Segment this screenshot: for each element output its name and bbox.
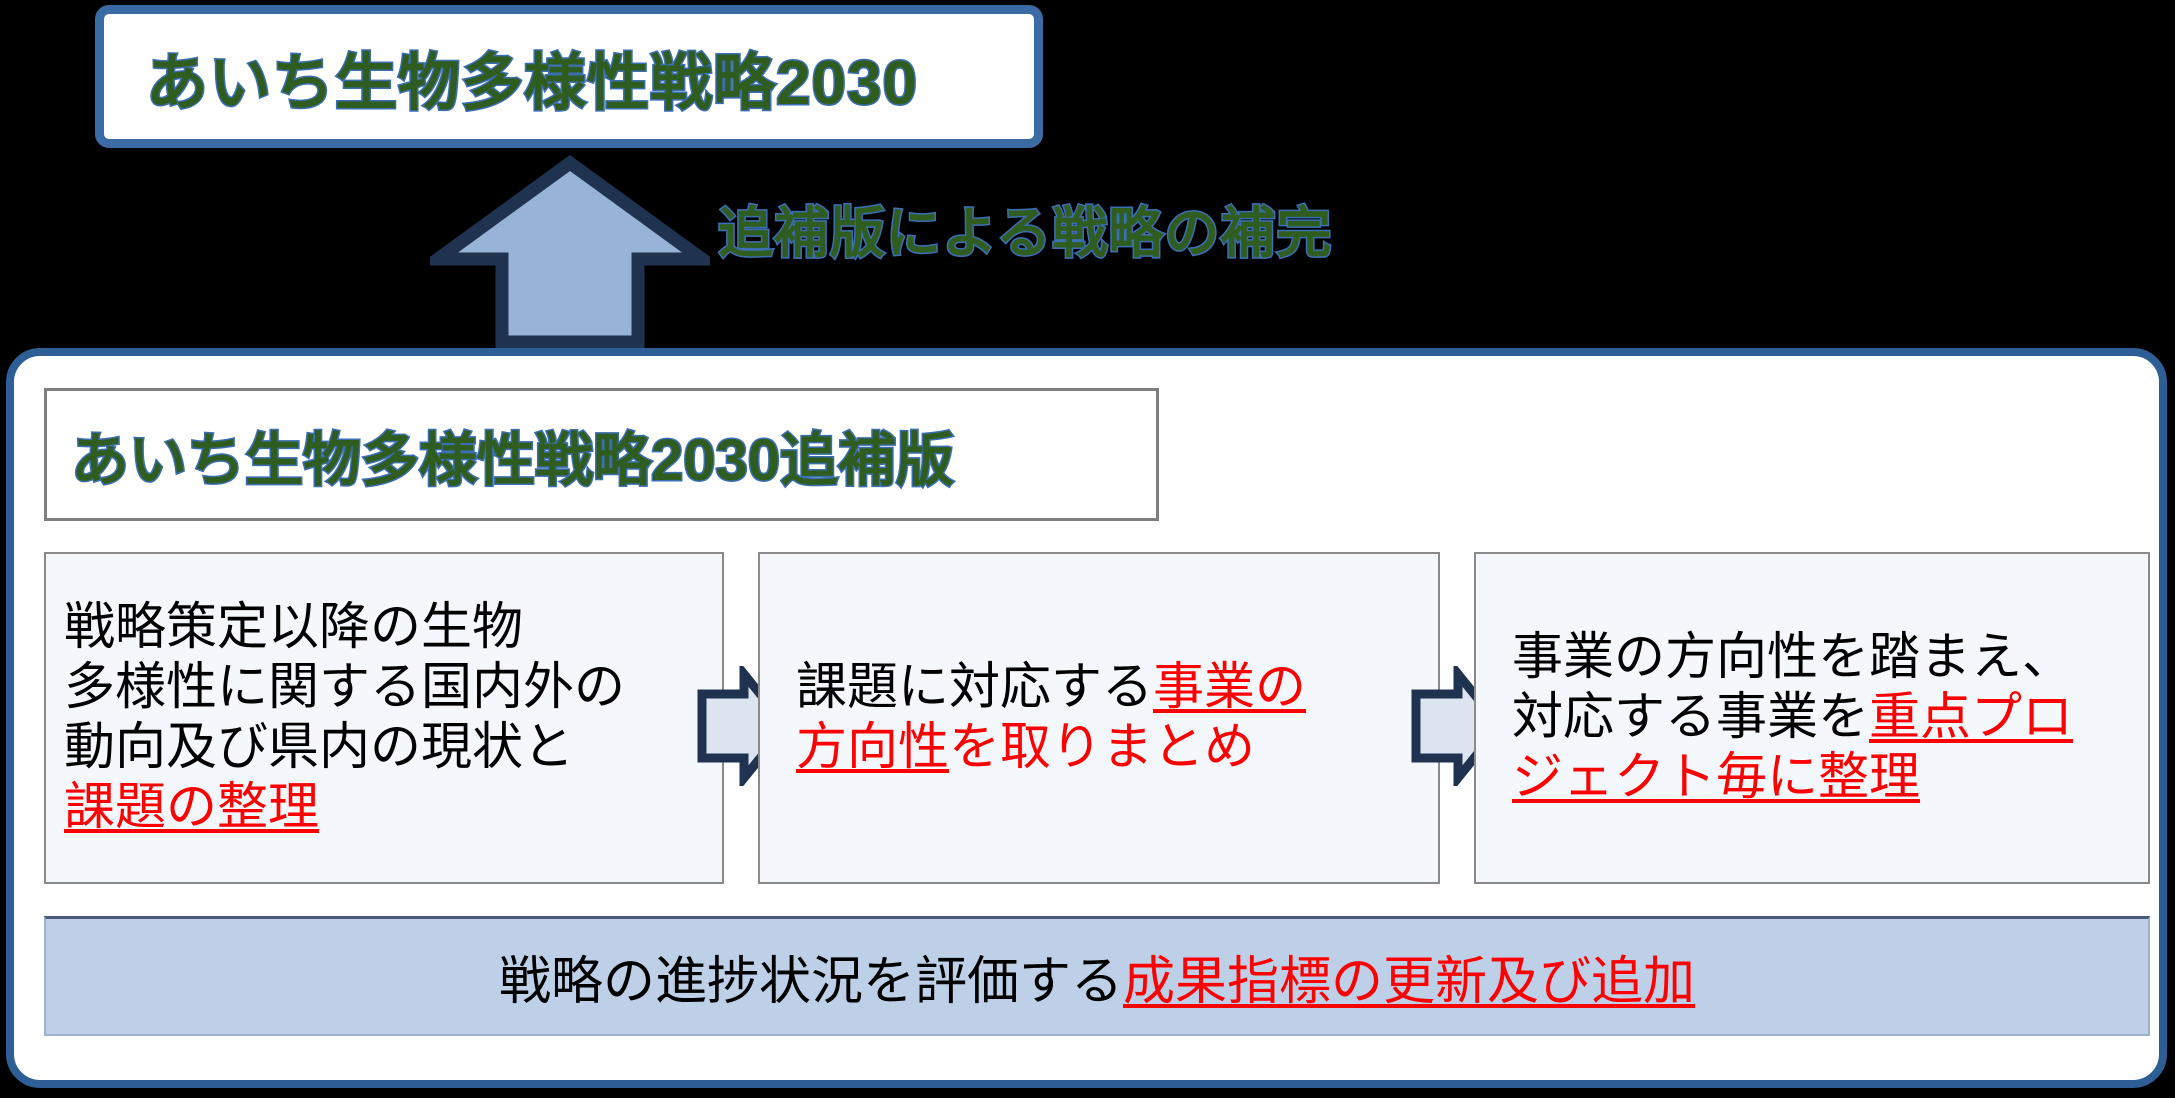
indicator-update-bar: 戦略の進捗状況を評価する成果指標の更新及び追加 <box>44 916 2150 1036</box>
page-title: あいち生物多様性戦略2030 <box>146 32 918 122</box>
line: 戦略策定以降の生物 <box>64 598 523 657</box>
strategy-title-box: あいち生物多様性戦略2030 <box>95 5 1043 148</box>
line-highlight: 事業の <box>1153 658 1306 717</box>
indicator-update-text: 戦略の進捗状況を評価する成果指標の更新及び追加 <box>499 939 1695 1014</box>
step-box-3-text: 事業の方向性を踏まえ、対応する事業を重点プロジェクト毎に整理 <box>1476 628 2089 809</box>
line: 動向及び県内の現状と <box>64 718 574 777</box>
bar-segment-plain: 戦略の進捗状況を評価する <box>499 952 1123 1012</box>
step-box-1: 戦略策定以降の生物多様性に関する国内外の動向及び県内の現状と課題の整理 <box>44 552 724 884</box>
line: 事業の方向性を踏まえ、 <box>1512 628 2073 687</box>
line-highlight: 課題の整理 <box>64 778 319 837</box>
step-box-2: 課題に対応する事業の方向性を取りまとめ <box>758 552 1440 884</box>
line: 対応する事業を <box>1512 688 1869 747</box>
supplement-panel: あいち生物多様性戦略2030追補版 戦略策定以降の生物多様性に関する国内外の動向… <box>6 348 2167 1088</box>
arrow-caption-label: 追補版による戦略の補完 <box>718 188 1332 268</box>
line-highlight: 方向性 <box>796 718 949 777</box>
supplement-subtitle: あいち生物多様性戦略2030追補版 <box>71 413 954 497</box>
up-arrow <box>430 155 710 350</box>
step-box-3: 事業の方向性を踏まえ、対応する事業を重点プロジェクト毎に整理 <box>1474 552 2150 884</box>
line-highlight: を取りまとめ <box>949 718 1255 777</box>
bar-segment-highlight: 成果指標の更新及び追加 <box>1123 952 1695 1012</box>
up-arrow-icon <box>430 155 710 350</box>
supplement-subtitle-box: あいち生物多様性戦略2030追補版 <box>44 388 1159 521</box>
line-highlight: 重点プロ <box>1869 688 2073 747</box>
step-box-2-text: 課題に対応する事業の方向性を取りまとめ <box>760 658 1322 778</box>
line: 課題に対応する <box>796 658 1153 717</box>
step-box-1-text: 戦略策定以降の生物多様性に関する国内外の動向及び県内の現状と課題の整理 <box>46 598 641 839</box>
line: 多様性に関する国内外の <box>64 658 625 717</box>
line-highlight: ジェクト毎に整理 <box>1512 748 1920 807</box>
